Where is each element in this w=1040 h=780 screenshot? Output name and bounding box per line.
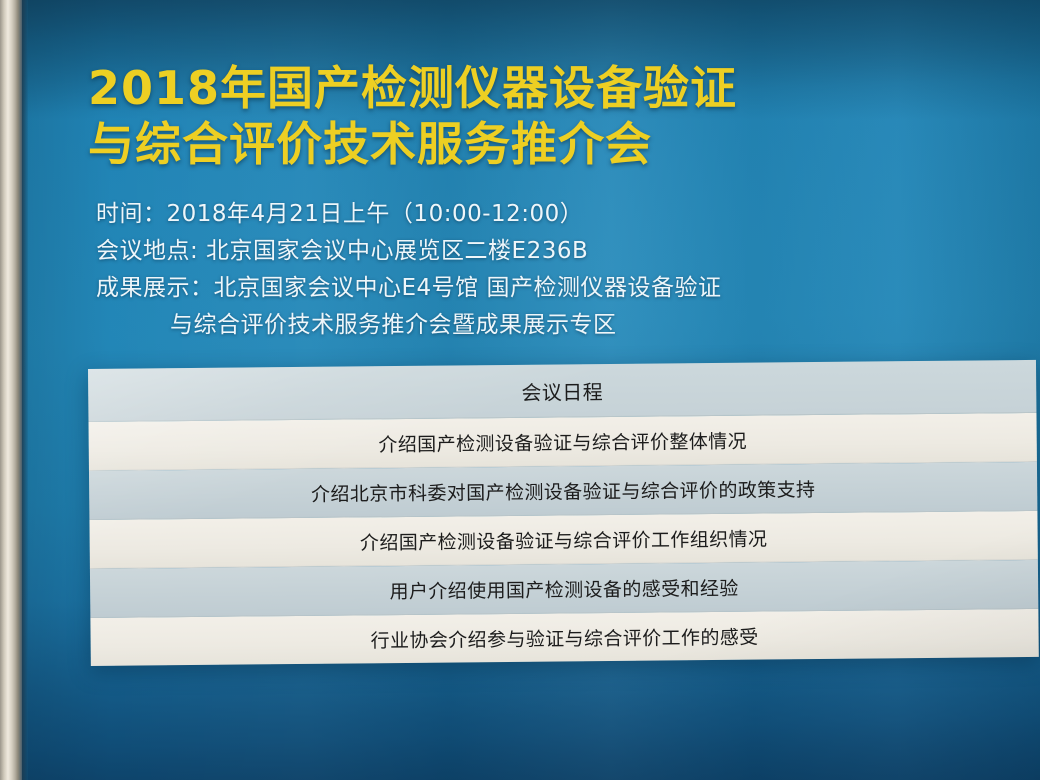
headline-line-2: 与综合评价技术服务推介会 bbox=[88, 116, 988, 172]
agenda-row-5: 行业协会介绍参与验证与综合评价工作的感受 bbox=[90, 609, 1038, 666]
agenda-row-label: 用户介绍使用国产检测设备的感受和经验 bbox=[389, 573, 738, 603]
headline-line-1: 2018年国产检测仪器设备验证 bbox=[88, 60, 988, 116]
picture-frame-edge bbox=[0, 0, 22, 780]
agenda-table: 会议日程 介绍国产检测设备验证与综合评价整体情况 介绍北京市科委对国产检测设备验… bbox=[88, 360, 1039, 666]
poster-photo: 2018年国产检测仪器设备验证 与综合评价技术服务推介会 时间：2018年4月2… bbox=[0, 0, 1040, 780]
poster-board: 2018年国产检测仪器设备验证 与综合评价技术服务推介会 时间：2018年4月2… bbox=[20, 0, 1040, 780]
agenda-row-label: 介绍国产检测设备验证与综合评价整体情况 bbox=[378, 426, 747, 457]
agenda-row-label: 介绍国产检测设备验证与综合评价工作组织情况 bbox=[360, 524, 768, 555]
agenda-header-row: 会议日程 bbox=[88, 360, 1036, 422]
info-line-exhibition-continued: 与综合评价技术服务推介会暨成果展示专区 bbox=[96, 307, 976, 344]
agenda-row-label: 介绍北京市科委对国产检测设备验证与综合评价的政策支持 bbox=[311, 475, 816, 507]
poster-info-block: 时间：2018年4月21日上午（10:00-12:00） 会议地点: 北京国家会… bbox=[96, 196, 976, 344]
agenda-header-label: 会议日程 bbox=[521, 376, 603, 406]
info-line-time: 时间：2018年4月21日上午（10:00-12:00） bbox=[96, 196, 976, 233]
poster-headline: 2018年国产检测仪器设备验证 与综合评价技术服务推介会 bbox=[88, 60, 988, 172]
info-line-exhibition: 成果展示：北京国家会议中心E4号馆 国产检测仪器设备验证 bbox=[96, 270, 976, 307]
info-line-venue: 会议地点: 北京国家会议中心展览区二楼E236B bbox=[96, 233, 976, 270]
agenda-row-label: 行业协会介绍参与验证与综合评价工作的感受 bbox=[370, 622, 758, 653]
